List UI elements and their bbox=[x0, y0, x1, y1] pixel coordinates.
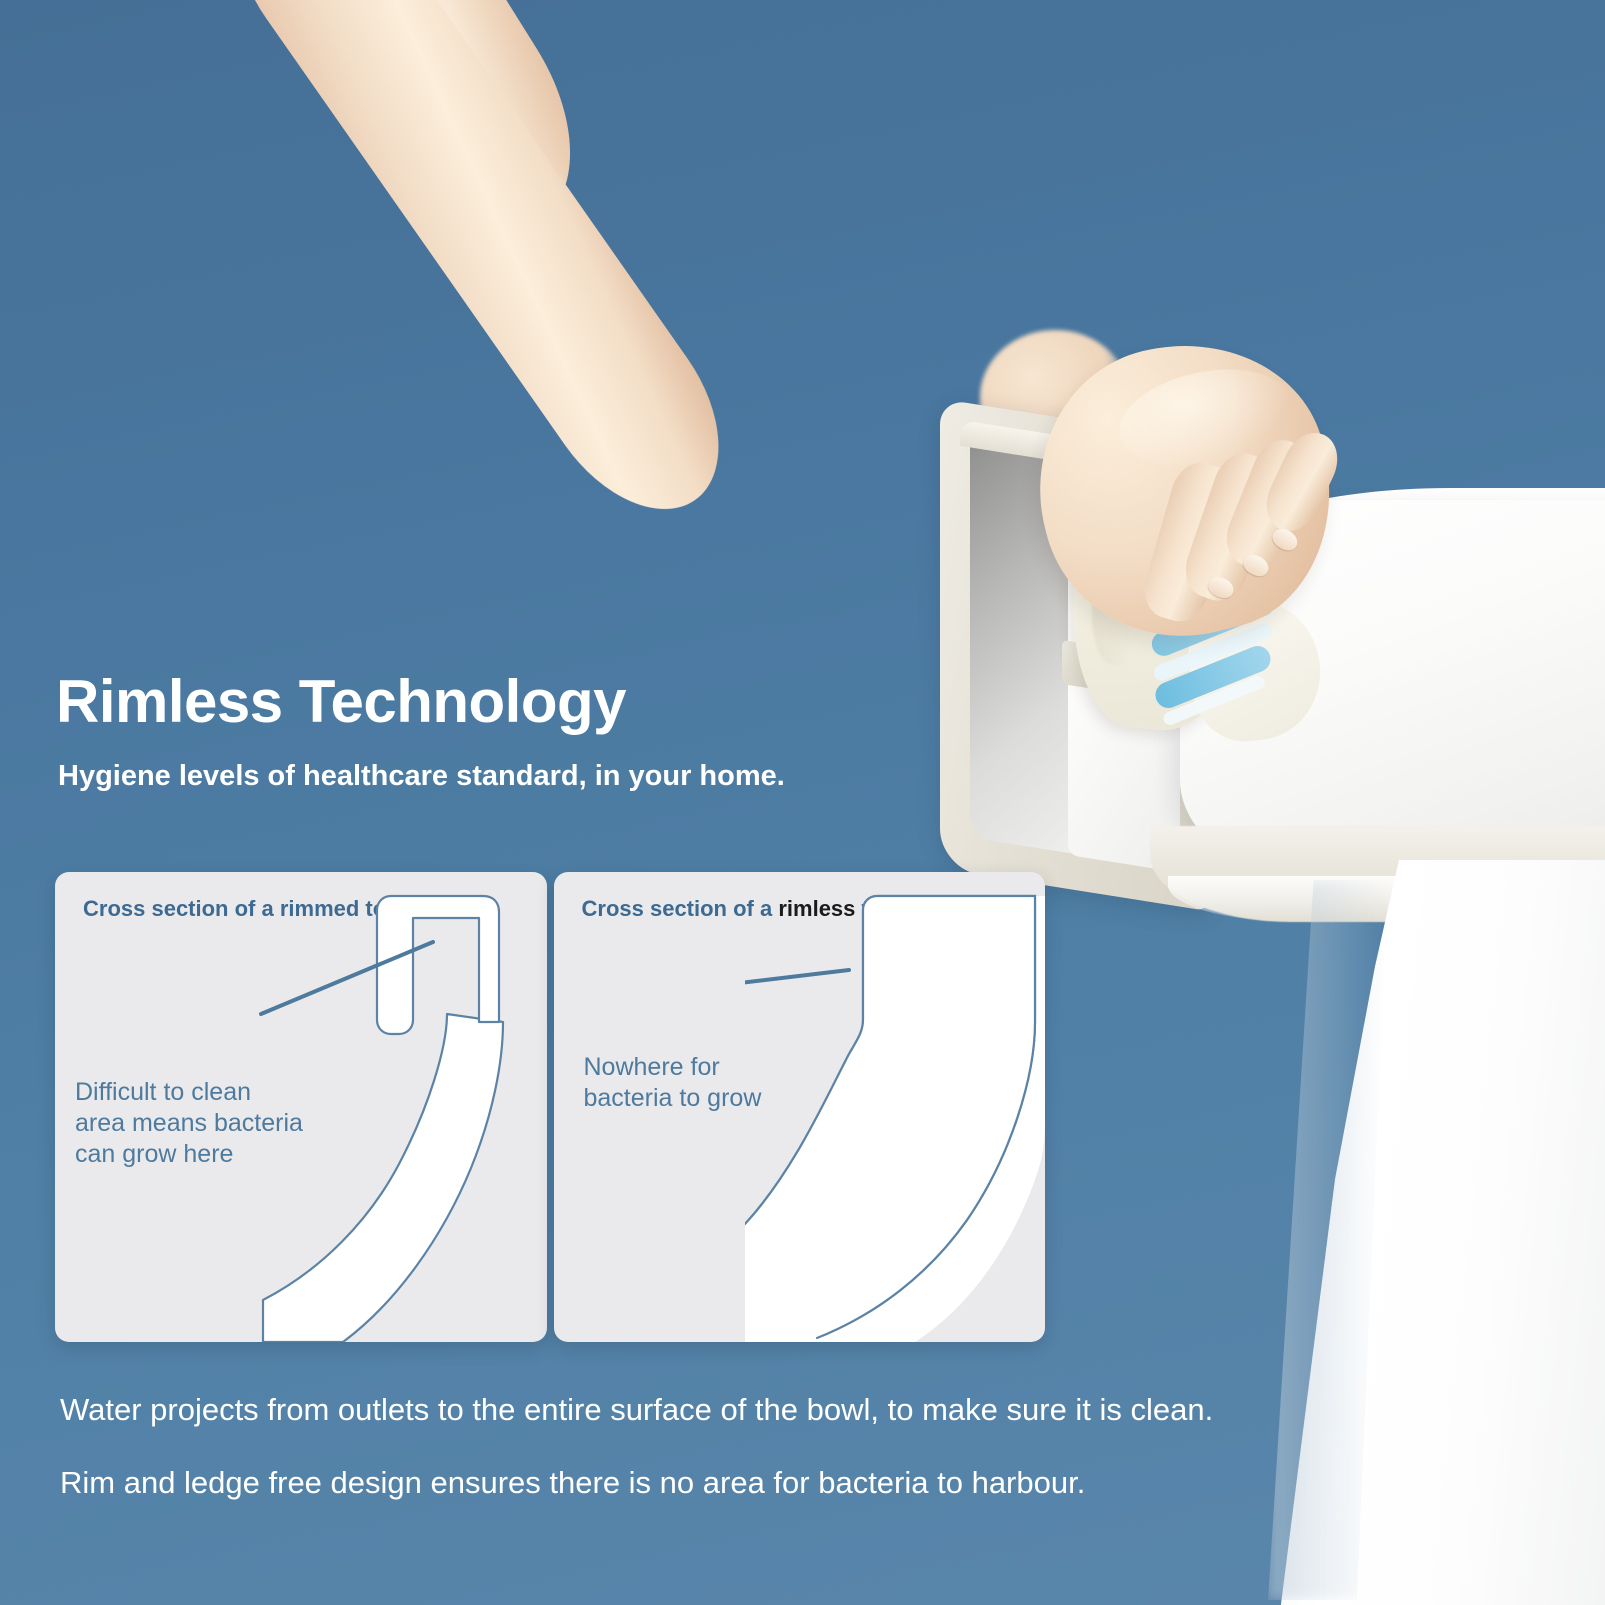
card-rimmed-toilet: Cross section of a rimmed toilet Difficu… bbox=[55, 872, 547, 1342]
rimmed-toilet-cross-section bbox=[247, 872, 547, 1342]
footer-line-1: Water projects from outlets to the entir… bbox=[60, 1392, 1213, 1428]
comparison-cards: Cross section of a rimmed toilet Difficu… bbox=[55, 872, 1045, 1342]
marketing-infographic: Rimless Technology Hygiene levels of hea… bbox=[0, 0, 1605, 1605]
page-title: Rimless Technology bbox=[56, 672, 626, 732]
hero-photo bbox=[0, 0, 1605, 1605]
leader-line-rimless bbox=[745, 970, 849, 994]
annotation-rimless: Nowhere for bacteria to grow bbox=[584, 1052, 762, 1114]
forearm bbox=[198, 0, 757, 543]
page-subtitle: Hygiene levels of healthcare standard, i… bbox=[58, 760, 785, 793]
footer-line-2: Rim and ledge free design ensures there … bbox=[60, 1465, 1085, 1501]
rimless-toilet-cross-section bbox=[745, 872, 1045, 1342]
card-rimless-toilet: Cross section of a rimless toilet Nowher… bbox=[554, 872, 1046, 1342]
